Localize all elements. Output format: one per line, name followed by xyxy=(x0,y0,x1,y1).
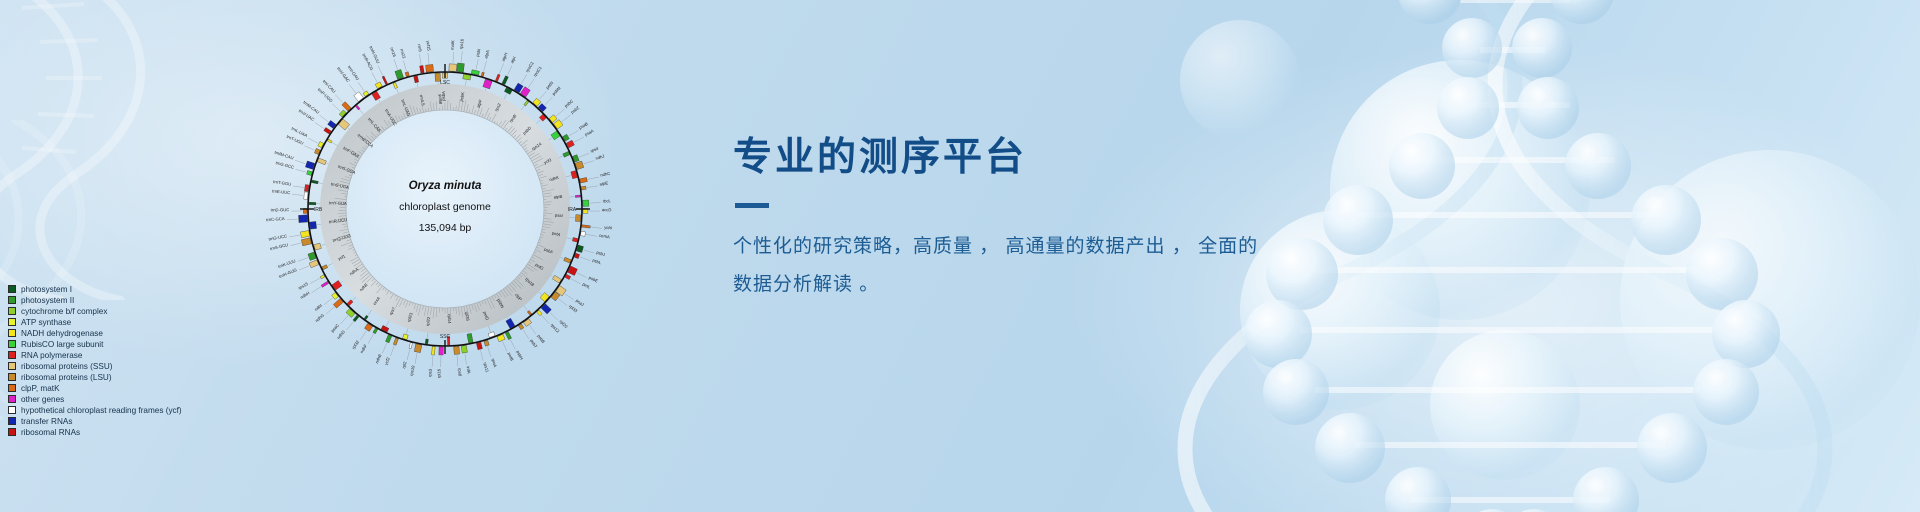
legend-item-label: other genes xyxy=(21,395,64,404)
gene-feature-box xyxy=(393,338,398,345)
gene-label: psbL xyxy=(592,258,603,266)
legend-item: transfer RNAs xyxy=(8,416,248,427)
legend-item: ATP synthase xyxy=(8,317,248,328)
gene-feature-box xyxy=(393,82,397,88)
legend-color-swatch xyxy=(8,351,16,359)
legend-color-swatch xyxy=(8,296,16,304)
chloroplast-genome-map: Oryza minuta chloroplast genome 135,094 … xyxy=(240,4,650,414)
gene-label: ndhI xyxy=(313,303,322,312)
gene-label: rps15 xyxy=(297,281,309,291)
genome-type-label: chloroplast genome xyxy=(399,201,491,213)
gene-feature-box xyxy=(476,342,482,349)
gene-feature-box xyxy=(580,177,588,182)
gene-label: matK xyxy=(450,40,456,50)
legend-color-swatch xyxy=(8,417,16,425)
gene-label: trnG-UCC xyxy=(268,233,287,241)
hero-subtitle: 个性化的研究策略，高质量 ， 高通量的数据产出 ， 全面的数据分析解读 。 xyxy=(733,228,1273,304)
legend-color-swatch xyxy=(8,395,16,403)
gene-feature-box xyxy=(320,275,325,279)
gene-feature-box xyxy=(314,243,322,250)
gene-feature-box xyxy=(304,185,309,192)
gene-label: atpA xyxy=(483,49,490,59)
gene-feature-box xyxy=(572,237,577,242)
background-blob xyxy=(1430,330,1580,480)
gene-feature-box xyxy=(505,332,511,340)
legend-item-label: hypothetical chloroplast reading frames … xyxy=(21,406,182,415)
gene-feature-box xyxy=(310,221,317,229)
legend-item: other genes xyxy=(8,394,248,405)
gene-label: petL xyxy=(582,281,592,290)
legend-item: photosystem II xyxy=(8,295,248,306)
gene-feature-box xyxy=(420,65,424,73)
gene-label: ycf2 xyxy=(383,356,391,366)
gene-label: psbC xyxy=(563,98,574,108)
genome-region-label: IRA xyxy=(568,207,577,213)
gene-feature-box xyxy=(575,195,580,197)
legend-item: NADH dehydrogenase xyxy=(8,328,248,339)
genome-region-label: SSC xyxy=(440,334,451,340)
gene-label: ndhC xyxy=(600,171,611,178)
gene-label: ndhH xyxy=(299,290,310,300)
gene-label: rpl14 xyxy=(447,314,452,324)
gene-feature-box xyxy=(563,151,570,157)
gene-label: psbI xyxy=(475,48,482,57)
gene-label: rps19 xyxy=(409,364,416,376)
gene-feature-box xyxy=(580,231,585,236)
gene-feature-box xyxy=(304,192,308,200)
gene-label: psbE xyxy=(588,275,599,284)
gene-label: trnfM-CAU xyxy=(274,150,294,161)
gene-label: trnC-GCA xyxy=(266,216,285,222)
legend-item: ribosomal proteins (LSU) xyxy=(8,372,248,383)
gene-label: rps12 xyxy=(550,322,561,334)
legend-item-label: cytochrome b/f complex xyxy=(21,307,107,316)
legend-item: RubisCO large subunit xyxy=(8,339,248,350)
legend-color-swatch xyxy=(8,340,16,348)
gene-label: psbB xyxy=(536,333,546,344)
gene-feature-box xyxy=(425,339,428,344)
gene-label: accD xyxy=(602,207,612,212)
gene-label: atpH xyxy=(501,52,509,62)
legend-color-swatch xyxy=(8,384,16,392)
gene-label: rps3 xyxy=(427,368,433,377)
gene-label: petB xyxy=(507,352,515,362)
genome-legend: photosystem Iphotosystem IIcytochrome b/… xyxy=(8,284,248,438)
legend-item-label: ATP synthase xyxy=(21,318,71,327)
gene-feature-box xyxy=(382,76,387,84)
gene-label: rrn16 xyxy=(389,47,397,59)
gene-label: psaB xyxy=(578,121,589,130)
gene-feature-box xyxy=(502,76,508,85)
gene-label: petN xyxy=(545,80,555,90)
gene-label: psbT xyxy=(529,338,538,349)
gene-feature-box xyxy=(524,101,529,107)
gene-feature-box xyxy=(301,238,311,246)
gene-feature-box xyxy=(461,345,467,353)
legend-color-swatch xyxy=(8,362,16,370)
genome-region-label: IRB xyxy=(314,207,323,213)
gene-feature-box xyxy=(309,260,319,268)
gene-feature-box xyxy=(481,72,484,76)
gene-feature-box xyxy=(582,225,591,228)
gene-feature-box xyxy=(432,346,436,355)
gene-label: ycf4 xyxy=(604,225,613,231)
gene-feature-box xyxy=(395,69,404,79)
gene-feature-box xyxy=(495,74,500,81)
legend-color-swatch xyxy=(8,373,16,381)
gene-feature-box xyxy=(321,281,329,287)
genome-region-label: LSC xyxy=(440,80,450,86)
gene-label: ndhG xyxy=(314,313,325,324)
gene-label: ndhB xyxy=(374,353,383,364)
legend-item-label: NADH dehydrogenase xyxy=(21,329,103,338)
gene-label: trnY-GUA xyxy=(329,200,347,206)
gene-label: psbZ xyxy=(570,105,581,115)
gene-feature-box xyxy=(305,161,314,169)
gene-label: atpI xyxy=(509,56,516,64)
genome-species-name: Oryza minuta xyxy=(409,180,482,192)
gene-feature-box xyxy=(583,200,589,206)
gene-label: ycf68 xyxy=(438,94,444,105)
genome-length-label: 135,094 bp xyxy=(419,222,472,234)
gene-label: cemA xyxy=(599,233,611,240)
gene-label: ndhD xyxy=(336,329,346,340)
gene-feature-box xyxy=(426,64,434,72)
gene-feature-box xyxy=(467,333,473,343)
legend-item: RNA polymerase xyxy=(8,350,248,361)
background-blob xyxy=(1620,150,1920,450)
gene-label: atpB xyxy=(553,194,562,200)
gene-label: psaI xyxy=(555,213,563,219)
legend-item: clpP, matK xyxy=(8,383,248,394)
gene-feature-box xyxy=(439,347,444,355)
gene-label: rps16 xyxy=(459,38,465,50)
gene-label: psaC xyxy=(330,323,340,334)
gene-label: ndhJ xyxy=(595,153,605,161)
gene-feature-box xyxy=(298,215,307,223)
page-title: 专业的测序平台 xyxy=(733,136,1293,181)
legend-item-label: clpP, matK xyxy=(21,384,60,393)
gene-label: trnD-GUC xyxy=(271,207,290,212)
gene-label: trnG-GCC xyxy=(275,160,294,170)
legend-item-label: RNA polymerase xyxy=(21,351,82,360)
legend-item-label: ribosomal proteins (LSU) xyxy=(21,373,112,382)
gene-feature-box xyxy=(356,105,361,110)
gene-feature-box xyxy=(527,310,531,315)
gene-feature-box xyxy=(364,315,368,319)
gene-feature-box xyxy=(409,343,412,349)
gene-feature-box xyxy=(463,74,471,80)
gene-label: trnE-UUC xyxy=(272,188,291,195)
hero-banner: Oryza minuta chloroplast genome 135,094 … xyxy=(0,0,1920,512)
gene-feature-box xyxy=(564,257,572,263)
gene-feature-box xyxy=(454,346,460,354)
background-blob xyxy=(1180,20,1300,140)
gene-feature-box xyxy=(552,275,561,283)
gene-feature-box xyxy=(449,64,457,72)
legend-color-swatch xyxy=(8,285,16,293)
gene-feature-box xyxy=(327,139,332,143)
title-underline-rule xyxy=(735,203,769,208)
legend-item-label: photosystem II xyxy=(21,296,74,305)
gene-label: rpl2 xyxy=(401,360,408,369)
hero-copy-block: 专业的测序平台 个性化的研究策略，高质量 ， 高通量的数据产出 ， 全面的数据分… xyxy=(733,136,1293,304)
gene-feature-box xyxy=(309,202,316,205)
gene-label: ndhF xyxy=(359,343,368,354)
legend-item-label: transfer RNAs xyxy=(21,417,72,426)
gene-feature-box xyxy=(414,344,422,353)
gene-label: rpl16 xyxy=(436,368,441,378)
background-blob xyxy=(1330,60,1590,320)
gene-feature-box xyxy=(312,180,319,184)
gene-label: trnS-GCU xyxy=(270,242,289,251)
gene-feature-box xyxy=(385,335,391,343)
gene-feature-box xyxy=(405,72,409,77)
gene-feature-box xyxy=(373,328,378,334)
gene-label: rpl33 xyxy=(568,304,579,314)
legend-item-label: ribosomal proteins (SSU) xyxy=(21,362,112,371)
gene-feature-box xyxy=(300,231,309,238)
gene-label: rbcL xyxy=(603,198,612,203)
gene-label: rps8 xyxy=(457,368,463,377)
legend-color-swatch xyxy=(8,318,16,326)
legend-item-label: photosystem I xyxy=(21,285,72,294)
legend-item: cytochrome b/f complex xyxy=(8,306,248,317)
gene-label: psaA xyxy=(584,128,595,137)
gene-feature-box xyxy=(307,171,312,176)
gene-label: trnH-GUG xyxy=(278,267,297,279)
legend-item: ribosomal proteins (SSU) xyxy=(8,361,248,372)
gene-label: rpl32 xyxy=(351,339,361,350)
legend-color-swatch xyxy=(8,428,16,436)
gene-feature-box xyxy=(317,158,326,165)
gene-label: psbM xyxy=(551,85,562,96)
gene-feature-box xyxy=(581,186,586,190)
gene-label: psbH xyxy=(515,350,524,361)
legend-item-label: RubisCO large subunit xyxy=(21,340,103,349)
gene-label: ycf15 xyxy=(426,40,432,51)
gene-label: rpoC1 xyxy=(532,65,543,78)
gene-label: infA xyxy=(466,366,472,374)
legend-color-swatch xyxy=(8,307,16,315)
gene-feature-box xyxy=(457,63,465,72)
gene-label: psbJ xyxy=(596,250,606,257)
gene-label: trnT-GGU xyxy=(273,179,292,187)
legend-item-label: ribosomal RNAs xyxy=(21,428,80,437)
legend-item: hypothetical chloroplast reading frames … xyxy=(8,405,248,416)
gene-feature-box xyxy=(414,76,419,83)
gene-feature-box xyxy=(322,265,328,270)
gene-feature-box xyxy=(353,315,359,321)
gene-label: rps4 xyxy=(590,146,600,154)
gene-label: rpoA xyxy=(491,358,498,368)
gene-feature-box xyxy=(346,309,355,318)
gene-label: atpE xyxy=(599,180,608,186)
gene-label: psaJ xyxy=(575,298,585,307)
legend-item: photosystem I xyxy=(8,284,248,295)
gene-label: rrn23 xyxy=(399,48,407,59)
gene-label: rrn5 xyxy=(417,44,423,53)
gene-feature-box xyxy=(575,215,580,222)
gene-label: rps11 xyxy=(483,362,490,374)
gene-feature-box xyxy=(484,340,489,346)
legend-color-swatch xyxy=(8,329,16,337)
legend-color-swatch xyxy=(8,406,16,414)
gene-label: rpl20 xyxy=(559,319,570,330)
legend-item: ribosomal RNAs xyxy=(8,427,248,438)
